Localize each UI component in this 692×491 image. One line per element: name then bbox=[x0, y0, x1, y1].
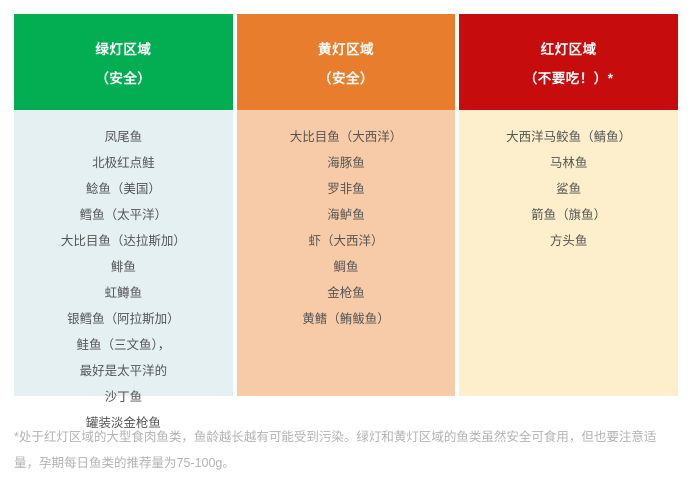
footnote: *处于红灯区域的大型食肉鱼类，鱼龄越长越有可能受到污染。绿灯和黄灯区域的鱼类虽然… bbox=[14, 424, 674, 476]
column-orange-header: 黄灯区域 （安全） bbox=[237, 14, 456, 110]
list-item: 鳕鱼（太平洋） bbox=[20, 202, 227, 228]
list-item: 海豚鱼 bbox=[243, 150, 450, 176]
list-item: 金枪鱼 bbox=[243, 280, 450, 306]
list-item: 黄鳍（鲔鲅鱼） bbox=[243, 306, 450, 332]
list-item: 鲱鱼 bbox=[20, 254, 227, 280]
column-red-subtitle: （不要吃！）* bbox=[524, 67, 614, 87]
column-green-subtitle: （安全） bbox=[95, 67, 151, 87]
column-orange-subtitle: （安全） bbox=[318, 67, 374, 87]
list-item: 虹鳟鱼 bbox=[20, 280, 227, 306]
fish-safety-chart: 绿灯区域 （安全） 凤尾鱼 北极红点鲑 鲶鱼（美国） 鳕鱼（太平洋） 大比目鱼（… bbox=[0, 0, 692, 491]
column-red-header: 红灯区域 （不要吃！）* bbox=[459, 14, 678, 110]
list-item: 虾（大西洋） bbox=[243, 228, 450, 254]
list-item: 大西洋马鲛鱼（鲭鱼） bbox=[465, 124, 672, 150]
column-orange: 黄灯区域 （安全） 大比目鱼（大西洋） 海豚鱼 罗非鱼 海鲈鱼 虾（大西洋） 鲷… bbox=[237, 14, 456, 396]
list-item: 鲶鱼（美国） bbox=[20, 176, 227, 202]
column-orange-body: 大比目鱼（大西洋） 海豚鱼 罗非鱼 海鲈鱼 虾（大西洋） 鲷鱼 金枪鱼 黄鳍（鲔… bbox=[237, 110, 456, 396]
column-red-title: 红灯区域 bbox=[541, 38, 597, 58]
column-green-body: 凤尾鱼 北极红点鲑 鲶鱼（美国） 鳕鱼（太平洋） 大比目鱼（达拉斯加） 鲱鱼 虹… bbox=[14, 110, 233, 396]
list-item: 银鳕鱼（阿拉斯加） bbox=[20, 306, 227, 332]
list-item: 鲷鱼 bbox=[243, 254, 450, 280]
list-item: 鲨鱼 bbox=[465, 176, 672, 202]
list-item: 马林鱼 bbox=[465, 150, 672, 176]
column-green-header: 绿灯区域 （安全） bbox=[14, 14, 233, 110]
column-green-title: 绿灯区域 bbox=[95, 38, 151, 58]
column-orange-title: 黄灯区域 bbox=[318, 38, 374, 58]
list-item: 北极红点鲑 bbox=[20, 150, 227, 176]
list-item: 海鲈鱼 bbox=[243, 202, 450, 228]
list-item: 方头鱼 bbox=[465, 228, 672, 254]
list-item: 罗非鱼 bbox=[243, 176, 450, 202]
list-item: 凤尾鱼 bbox=[20, 124, 227, 150]
list-item: 大比目鱼（大西洋） bbox=[243, 124, 450, 150]
list-item: 大比目鱼（达拉斯加） bbox=[20, 228, 227, 254]
column-red: 红灯区域 （不要吃！）* 大西洋马鲛鱼（鲭鱼） 马林鱼 鲨鱼 箭鱼（旗鱼） 方头… bbox=[459, 14, 678, 396]
list-item: 沙丁鱼 bbox=[20, 384, 227, 410]
list-item: 鲑鱼（三文鱼）， 最好是太平洋的 bbox=[20, 332, 227, 384]
list-item: 箭鱼（旗鱼） bbox=[465, 202, 672, 228]
column-red-body: 大西洋马鲛鱼（鲭鱼） 马林鱼 鲨鱼 箭鱼（旗鱼） 方头鱼 bbox=[459, 110, 678, 396]
column-green: 绿灯区域 （安全） 凤尾鱼 北极红点鲑 鲶鱼（美国） 鳕鱼（太平洋） 大比目鱼（… bbox=[14, 14, 233, 396]
traffic-light-table: 绿灯区域 （安全） 凤尾鱼 北极红点鲑 鲶鱼（美国） 鳕鱼（太平洋） 大比目鱼（… bbox=[14, 14, 678, 396]
